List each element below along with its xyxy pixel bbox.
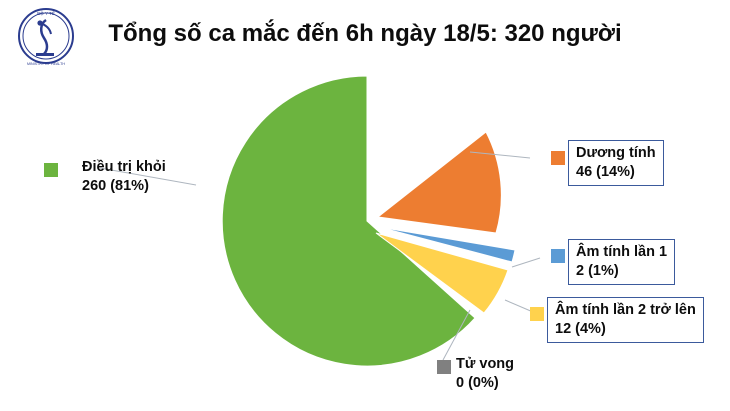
legend-value-negative2: 12 (4%) xyxy=(555,320,696,339)
legend-value-positive: 46 (14%) xyxy=(576,163,656,182)
legend-label-negative1: Âm tính lần 1 xyxy=(576,243,667,262)
legend-item-negative1: Âm tính lần 1 2 (1%) xyxy=(568,239,675,285)
legend-item-deaths: Tử vong 0 (0%) xyxy=(456,355,514,392)
legend-swatch-recovered xyxy=(44,163,58,177)
pie-slice-positive xyxy=(378,132,501,233)
pie-chart-svg xyxy=(196,70,536,395)
legend-value-negative1: 2 (1%) xyxy=(576,262,667,281)
legend-swatch-negative2 xyxy=(530,307,544,321)
chart-canvas: BỘ Y TẾ MINISTRY OF HEALTH Tổng số ca mắ… xyxy=(0,0,730,411)
legend-value-recovered: 260 (81%) xyxy=(82,177,166,196)
logo-top-text: BỘ Y TẾ xyxy=(37,10,55,16)
legend-label-negative2: Âm tính lần 2 trở lên xyxy=(555,301,696,320)
legend-item-recovered: Điều trị khỏi 260 (81%) xyxy=(82,158,166,195)
page-title: Tổng số ca mắc đến 6h ngày 18/5: 320 ngư… xyxy=(0,20,730,48)
legend-swatch-negative1 xyxy=(551,249,565,263)
legend-label-deaths: Tử vong xyxy=(456,355,514,374)
legend-item-negative2: Âm tính lần 2 trở lên 12 (4%) xyxy=(547,297,704,343)
legend-value-deaths: 0 (0%) xyxy=(456,374,514,393)
logo-bottom-text: MINISTRY OF HEALTH xyxy=(27,62,65,66)
legend-item-positive: Dương tính 46 (14%) xyxy=(568,140,664,186)
pie-chart xyxy=(196,70,536,395)
legend-label-positive: Dương tính xyxy=(576,144,656,163)
legend-swatch-deaths xyxy=(437,360,451,374)
legend-swatch-positive xyxy=(551,151,565,165)
legend-label-recovered: Điều trị khỏi xyxy=(82,158,166,177)
